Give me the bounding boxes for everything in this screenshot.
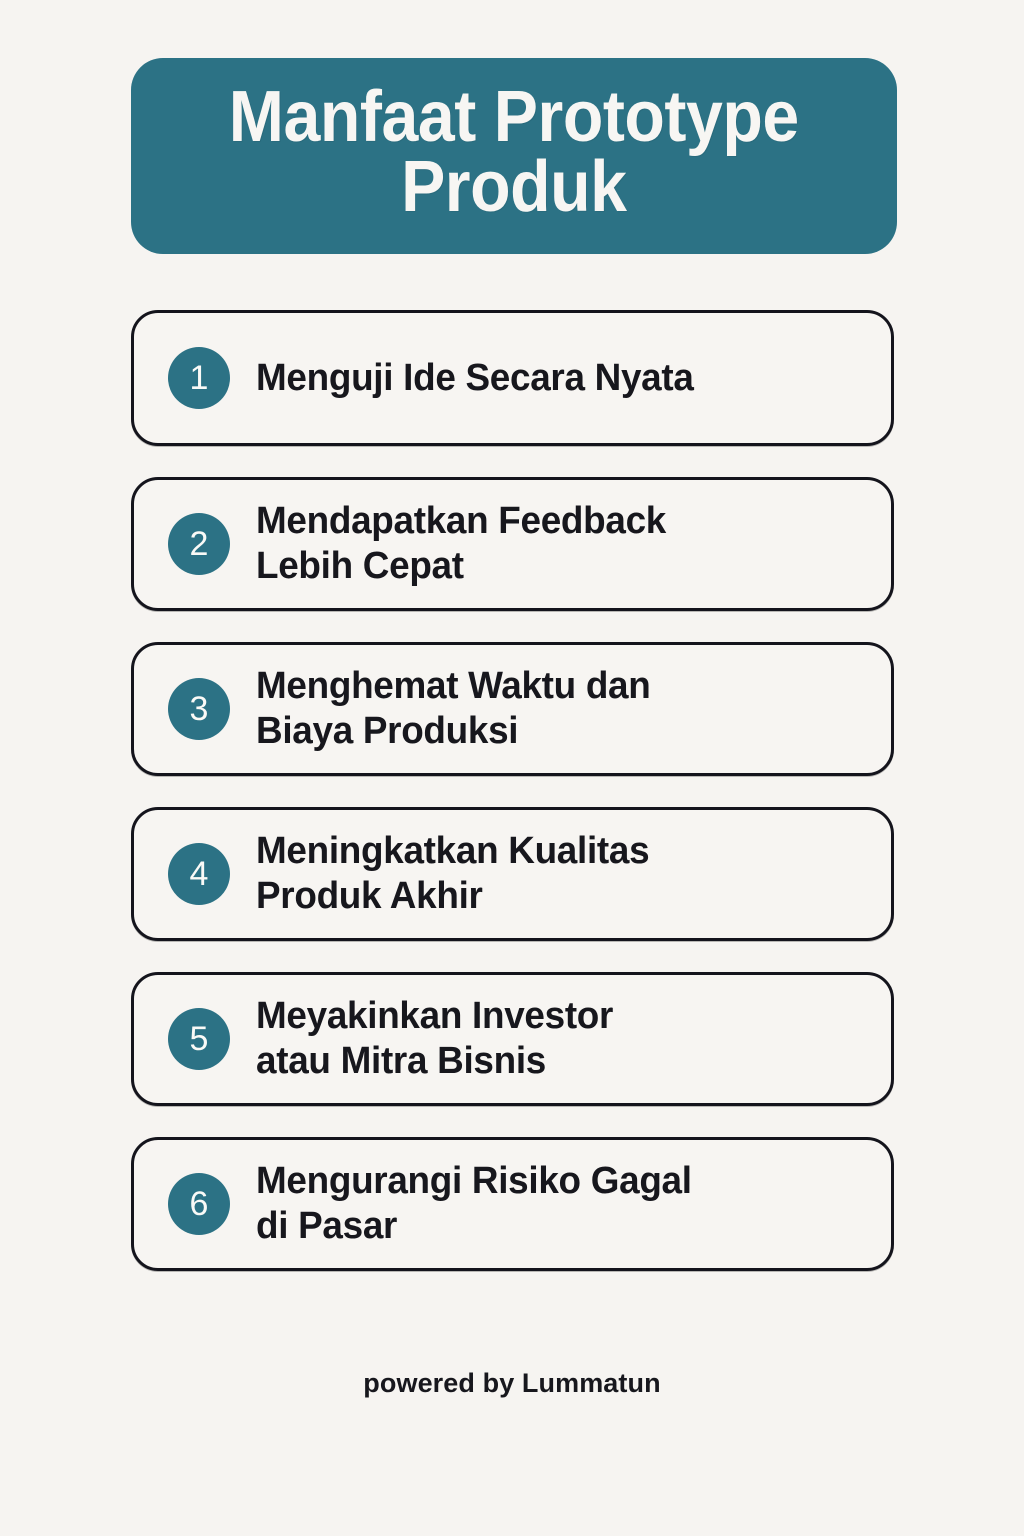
list-item[interactable]: 5 Meyakinkan Investor atau Mitra Bisnis: [131, 972, 894, 1106]
list-item-label: Mendapatkan Feedback Lebih Cepat: [256, 499, 666, 589]
item-number-badge: 1: [168, 347, 230, 409]
list-item[interactable]: 4 Meningkatkan Kualitas Produk Akhir: [131, 807, 894, 941]
item-number-badge: 2: [168, 513, 230, 575]
item-number-badge: 6: [168, 1173, 230, 1235]
list-item[interactable]: 3 Menghemat Waktu dan Biaya Produksi: [131, 642, 894, 776]
list-item-label: Menguji Ide Secara Nyata: [256, 356, 694, 401]
infographic-page: Manfaat Prototype Produk 1 Menguji Ide S…: [0, 0, 1024, 1536]
item-number-badge: 4: [168, 843, 230, 905]
item-number-badge: 3: [168, 678, 230, 740]
list-item-label: Menghemat Waktu dan Biaya Produksi: [256, 664, 651, 754]
benefits-list: 1 Menguji Ide Secara Nyata 2 Mendapatkan…: [131, 310, 894, 1271]
item-number-badge: 5: [168, 1008, 230, 1070]
list-item-label: Meyakinkan Investor atau Mitra Bisnis: [256, 994, 613, 1084]
list-item[interactable]: 2 Mendapatkan Feedback Lebih Cepat: [131, 477, 894, 611]
list-item[interactable]: 6 Mengurangi Risiko Gagal di Pasar: [131, 1137, 894, 1271]
page-title: Manfaat Prototype Produk: [229, 83, 799, 223]
footer-credit: powered by Lummatun: [363, 1368, 660, 1399]
list-item-label: Meningkatkan Kualitas Produk Akhir: [256, 829, 649, 919]
list-item[interactable]: 1 Menguji Ide Secara Nyata: [131, 310, 894, 446]
header-banner: Manfaat Prototype Produk: [131, 58, 897, 254]
footer: powered by Lummatun: [0, 1368, 1024, 1399]
list-item-label: Mengurangi Risiko Gagal di Pasar: [256, 1159, 692, 1249]
